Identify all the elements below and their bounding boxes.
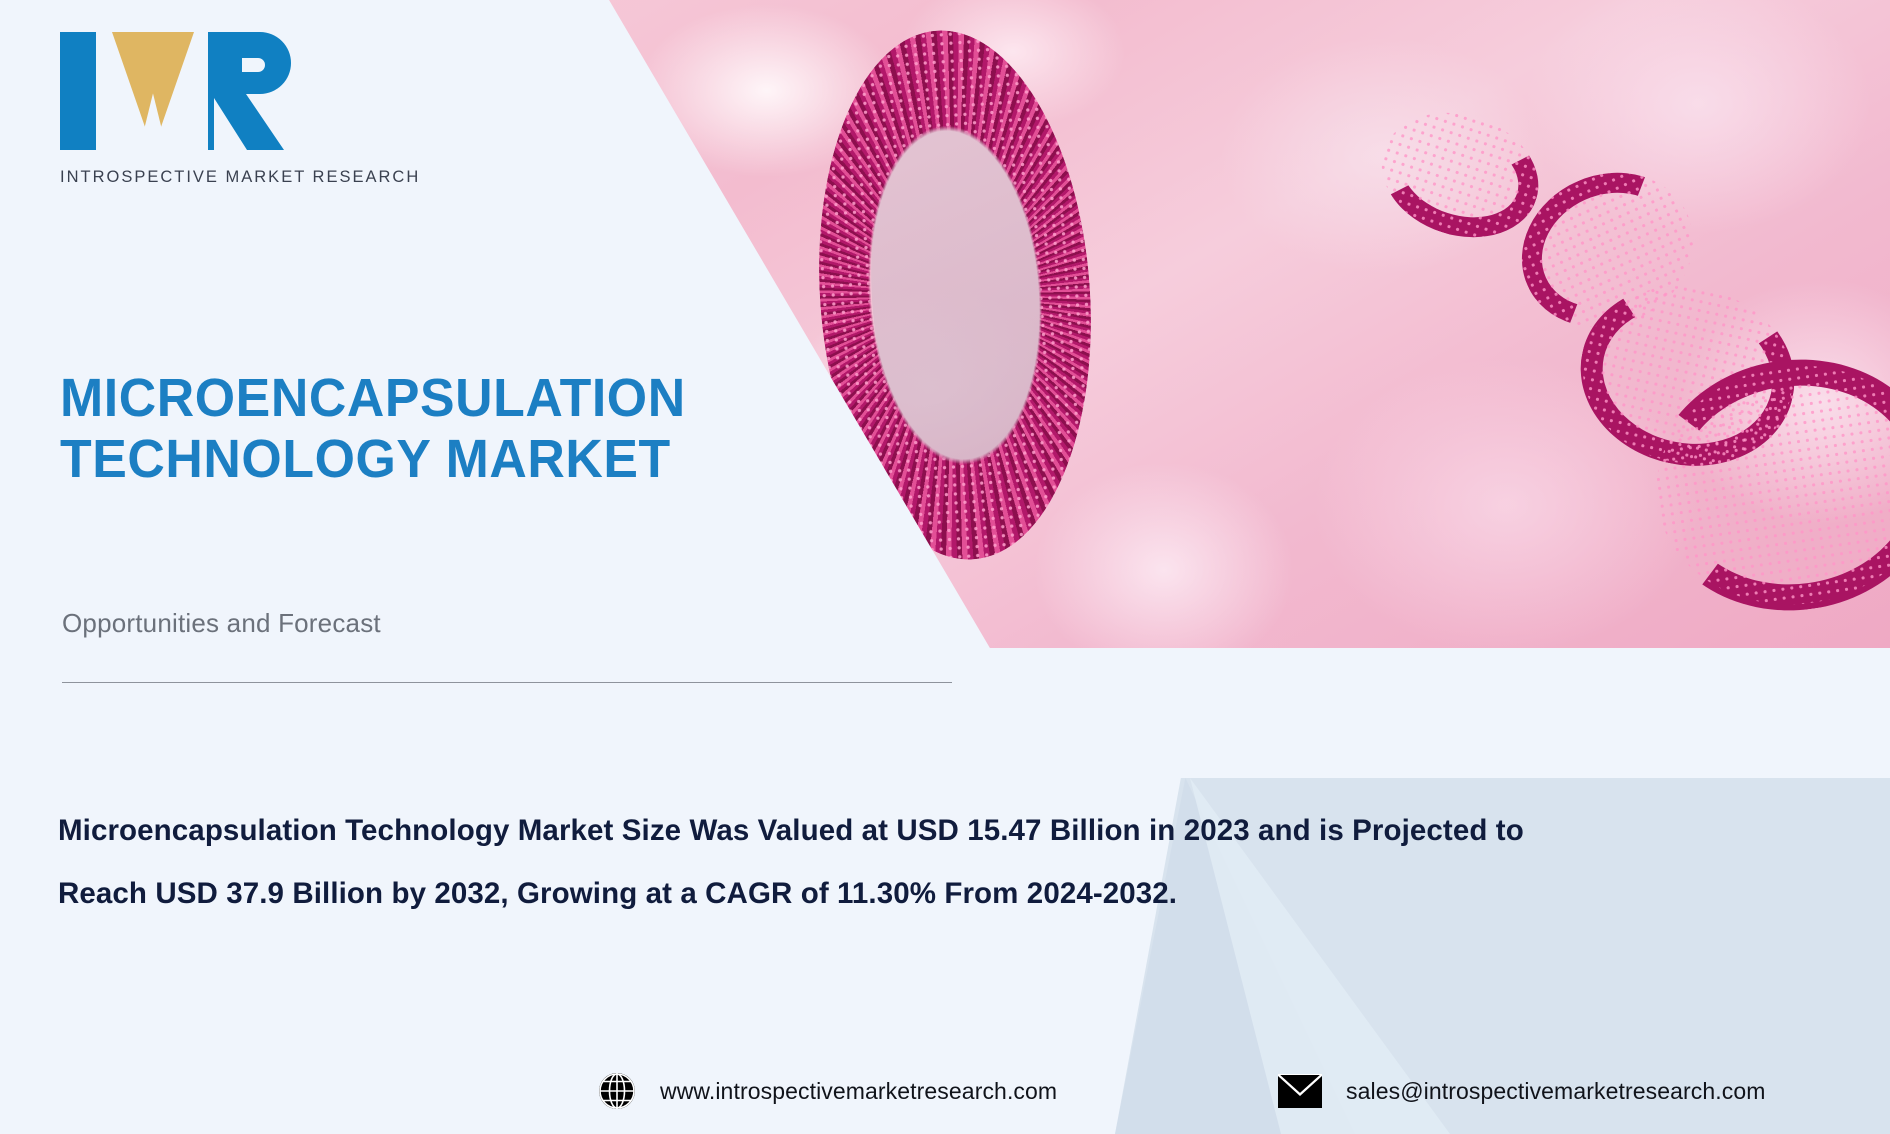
hero-image xyxy=(520,0,1890,648)
globe-icon xyxy=(598,1072,636,1110)
logo-letter-i xyxy=(60,32,96,150)
email-text: sales@introspectivemarketresearch.com xyxy=(1346,1078,1765,1105)
website-text: www.introspectivemarketresearch.com xyxy=(660,1078,1057,1105)
report-cover: INTROSPECTIVE MARKET RESEARCH MICROENCAP… xyxy=(0,0,1890,1134)
liposome-ring xyxy=(802,21,1108,569)
logo-letter-r xyxy=(208,32,302,150)
logo-tagline: INTROSPECTIVE MARKET RESEARCH xyxy=(60,168,420,187)
footer-website[interactable]: www.introspectivemarketresearch.com xyxy=(598,1072,1057,1110)
page-subtitle: Opportunities and Forecast xyxy=(62,608,381,639)
title-divider xyxy=(62,682,952,683)
page-title: MICROENCAPSULATION TECHNOLOGY MARKET xyxy=(60,368,790,490)
footer-email[interactable]: sales@introspectivemarketresearch.com xyxy=(1278,1074,1765,1108)
footer: www.introspectivemarketresearch.com sale… xyxy=(0,1072,1890,1134)
company-logo: INTROSPECTIVE MARKET RESEARCH xyxy=(60,32,420,187)
logo-letter-m xyxy=(112,32,194,150)
market-statement: Microencapsulation Technology Market Siz… xyxy=(58,800,1588,925)
mail-icon xyxy=(1278,1074,1322,1108)
